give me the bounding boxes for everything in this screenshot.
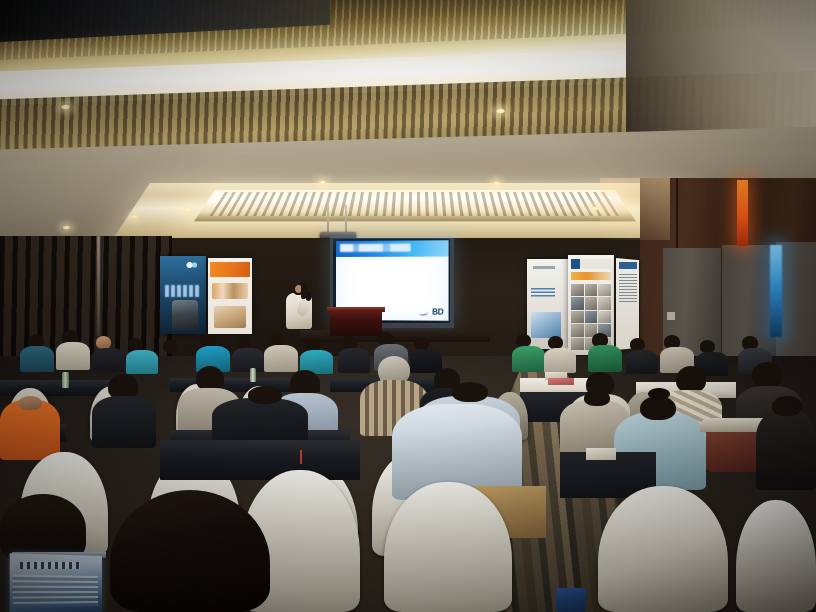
recessed-downlight-icon — [60, 104, 71, 110]
laptop-document-rows — [13, 575, 98, 608]
poster-accent-band — [571, 272, 611, 280]
slide-header-band — [336, 240, 449, 257]
audience-torso — [126, 350, 158, 374]
bd-logo: BD — [432, 308, 443, 316]
printed-brochure[interactable] — [548, 378, 574, 385]
accent-light-orange — [737, 180, 748, 246]
slide-title-text — [340, 244, 411, 252]
microphone-icon — [306, 292, 311, 301]
water-bottle[interactable] — [62, 372, 69, 388]
laptop-toolbar — [20, 562, 80, 569]
recessed-downlight-icon — [62, 225, 71, 230]
audience-head — [18, 396, 42, 410]
recessed-downlight-icon — [495, 108, 506, 114]
poster-text-block — [619, 274, 637, 304]
audience-head — [772, 396, 802, 416]
conference-room-photo: BD — [0, 0, 816, 612]
podium — [330, 310, 382, 336]
poster-text-block — [531, 288, 555, 298]
poster-header — [571, 259, 611, 269]
recessed-downlight-icon — [130, 214, 139, 219]
audience-torso — [56, 342, 90, 370]
curtain-light-gap — [97, 236, 100, 336]
audience-torso — [588, 345, 622, 372]
water-bottle[interactable] — [250, 368, 256, 382]
poster-board-right — [616, 258, 639, 350]
poster-image — [531, 312, 561, 338]
stage-edge — [300, 330, 490, 342]
audience-torso — [338, 348, 370, 373]
recessed-downlight-icon — [590, 206, 599, 211]
paper-handout[interactable] — [586, 448, 616, 460]
audience-torso — [410, 349, 442, 373]
audience-torso — [20, 346, 54, 372]
recessed-downlight-icon — [318, 180, 327, 185]
audience-hair-bun — [648, 388, 670, 400]
banner-logo-icon — [186, 261, 198, 269]
recessed-downlight-icon — [492, 181, 501, 186]
banner-text-block — [165, 285, 199, 297]
wall-light-wash — [600, 178, 670, 240]
conference-table — [160, 440, 360, 480]
audience-torso — [626, 350, 658, 374]
audience-head — [752, 362, 782, 389]
notebook[interactable] — [556, 588, 586, 612]
audience-head — [163, 340, 178, 353]
poster-header — [533, 266, 555, 269]
banner-product-image — [212, 283, 248, 299]
table-marker — [300, 450, 302, 464]
poster-header — [619, 262, 637, 269]
audience-head — [452, 382, 488, 402]
banner-product-image — [214, 306, 246, 328]
audience-torso — [232, 348, 264, 372]
wall-switch-plate[interactable] — [667, 312, 675, 320]
banner-product-image — [172, 300, 198, 330]
audience-head — [248, 386, 282, 404]
audience-torso — [92, 348, 124, 372]
recessed-downlight-icon — [183, 207, 192, 212]
banner-header-band — [210, 262, 250, 277]
audience-head — [584, 390, 610, 406]
ceiling-coffer-slats — [210, 192, 621, 216]
audience-head — [676, 366, 706, 393]
accent-light-blue — [770, 245, 782, 337]
audience-torso — [756, 410, 816, 490]
audience-torso — [512, 346, 545, 372]
audience-torso — [264, 345, 298, 372]
audience-torso — [544, 348, 576, 373]
audience-torso — [92, 396, 156, 448]
